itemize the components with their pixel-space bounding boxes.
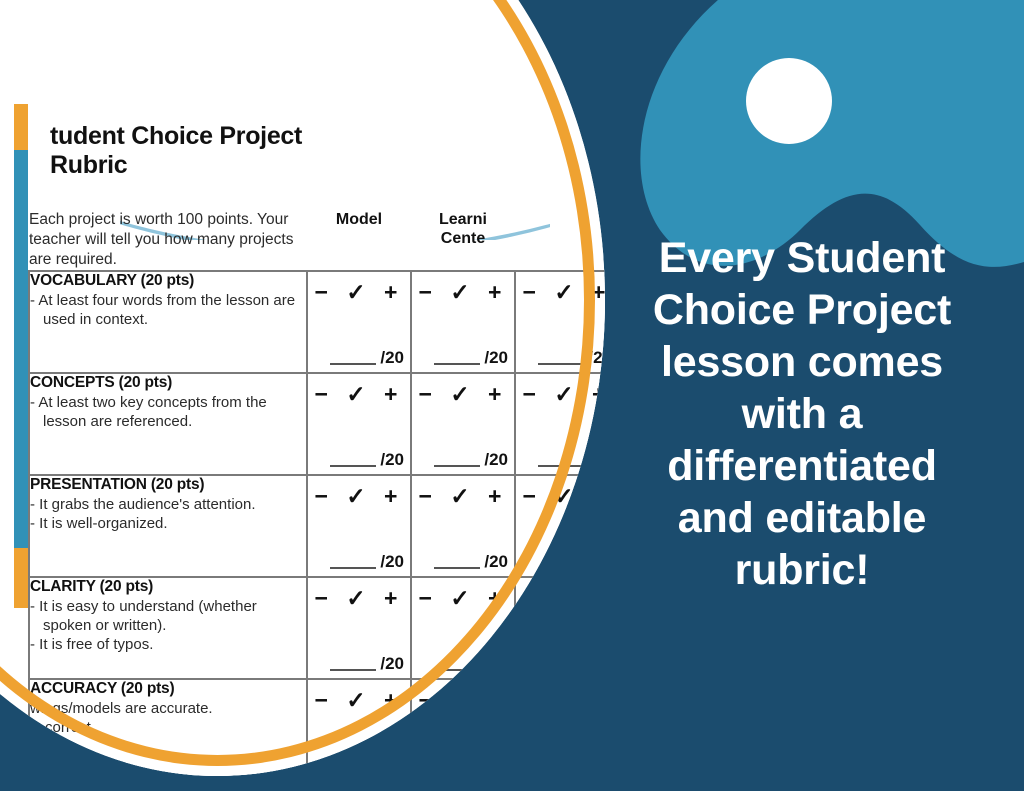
list-item: - It is well-organized.: [30, 514, 306, 533]
score-line[interactable]: [330, 465, 376, 467]
white-circle-decoration: [746, 58, 832, 144]
document-title: tudent Choice Project Rubric: [50, 122, 470, 180]
score-line[interactable]: [538, 771, 584, 773]
score-line[interactable]: [538, 465, 584, 467]
column-header-model: Model: [307, 210, 411, 271]
score-cell-third[interactable]: − ✓ + /20: [515, 271, 605, 373]
score-cell-learning-center[interactable]: − ✓ + /20: [411, 577, 515, 679]
criterion-title: PRESENTATION (20 pts): [30, 476, 306, 494]
column-header-learning-center: Learni Cente: [411, 210, 515, 271]
list-item: - It grabs the audience's attention.: [30, 495, 306, 514]
score-blank[interactable]: /20: [412, 450, 508, 470]
score-cell-learning-center[interactable]: − ✓ + /20: [411, 271, 515, 373]
score-cell-model[interactable]: − ✓ + /20: [307, 475, 411, 577]
score-line[interactable]: [330, 363, 376, 365]
score-blank[interactable]: /20: [308, 450, 404, 470]
score-blank[interactable]: /20: [412, 654, 508, 674]
score-blank[interactable]: /20: [308, 552, 404, 572]
list-item: wings/models are accurate.: [30, 699, 306, 718]
score-suffix: /20: [484, 552, 508, 571]
criterion-bullets: wings/models are accurate. is correct: [30, 699, 306, 737]
mark-options[interactable]: − ✓ +: [308, 374, 410, 408]
score-suffix: /20: [588, 450, 605, 469]
mark-options[interactable]: − ✓ +: [412, 476, 514, 510]
score-cell-third[interactable]: − ✓ + /20: [515, 679, 605, 776]
criterion-title: ACCURACY (20 pts): [30, 680, 306, 698]
mark-options[interactable]: − ✓ +: [516, 680, 605, 714]
criterion-bullets: - It is easy to understand (whether spok…: [30, 597, 306, 654]
score-suffix: /20: [588, 348, 605, 367]
column-header-learning-center-line2: Cente: [441, 230, 485, 247]
criterion-title: VOCABULARY (20 pts): [30, 272, 306, 290]
score-suffix: /20: [380, 756, 404, 775]
score-cell-learning-center[interactable]: − ✓ + /20: [411, 679, 515, 776]
criterion-accuracy: ACCURACY (20 pts) wings/models are accur…: [29, 679, 307, 776]
score-line[interactable]: [330, 567, 376, 569]
column-header-third: [515, 210, 605, 271]
score-suffix: /20: [588, 654, 605, 673]
score-blank[interactable]: /20: [516, 552, 605, 572]
score-cell-third[interactable]: − ✓ + /20: [515, 475, 605, 577]
score-blank[interactable]: /20: [412, 348, 508, 368]
table-row: ACCURACY (20 pts) wings/models are accur…: [29, 679, 605, 776]
score-blank[interactable]: /20: [308, 348, 404, 368]
mark-options[interactable]: − ✓ +: [516, 578, 605, 612]
score-suffix: /20: [380, 348, 404, 367]
score-line[interactable]: [330, 771, 376, 773]
score-cell-model[interactable]: − ✓ + /20: [307, 679, 411, 776]
score-line[interactable]: [434, 771, 480, 773]
score-suffix: /20: [380, 654, 404, 673]
page-edge-accent-top: [14, 104, 28, 150]
list-item: - At least two key concepts from the les…: [30, 393, 306, 431]
score-suffix: /20: [380, 552, 404, 571]
score-suffix: /20: [588, 552, 605, 571]
score-blank[interactable]: /20: [516, 450, 605, 470]
headline-line-2: Choice Project: [600, 284, 1004, 336]
score-cell-learning-center[interactable]: − ✓ + /20: [411, 475, 515, 577]
score-blank[interactable]: /20: [516, 756, 605, 776]
score-suffix: /20: [484, 348, 508, 367]
score-line[interactable]: [538, 363, 584, 365]
table-row: VOCABULARY (20 pts) - At least four word…: [29, 271, 605, 373]
score-suffix: /20: [380, 450, 404, 469]
criterion-title: CLARITY (20 pts): [30, 578, 306, 596]
list-item: is correct: [30, 718, 306, 737]
rubric-page: tudent Choice Project Rubric Each projec…: [0, 0, 605, 776]
score-line[interactable]: [434, 363, 480, 365]
headline-line-4: with a: [600, 388, 1004, 440]
score-cell-model[interactable]: − ✓ + /20: [307, 271, 411, 373]
document-title-line-1: tudent Choice Project: [50, 122, 470, 151]
mark-options[interactable]: − ✓ +: [412, 680, 514, 714]
criterion-presentation: PRESENTATION (20 pts) - It grabs the aud…: [29, 475, 307, 577]
score-suffix: /20: [484, 450, 508, 469]
score-line[interactable]: [538, 669, 584, 671]
score-line[interactable]: [434, 669, 480, 671]
score-line[interactable]: [330, 669, 376, 671]
score-line[interactable]: [434, 567, 480, 569]
table-row: CONCEPTS (20 pts) - At least two key con…: [29, 373, 605, 475]
mark-options[interactable]: − ✓ +: [308, 578, 410, 612]
list-item: - It is free of typos.: [30, 635, 306, 654]
list-item: - At least four words from the lesson ar…: [30, 291, 306, 329]
page-edge-accent-bottom: [14, 548, 28, 608]
headline-line-3: lesson comes: [600, 336, 1004, 388]
score-cell-learning-center[interactable]: − ✓ + /20: [411, 373, 515, 475]
mark-options[interactable]: − ✓ +: [412, 272, 514, 306]
list-item: - It is easy to understand (whether spok…: [30, 597, 306, 635]
table-row: CLARITY (20 pts) - It is easy to underst…: [29, 577, 605, 679]
page-edge-accent-teal: [14, 150, 28, 548]
score-blank[interactable]: /20: [516, 654, 605, 674]
criterion-clarity: CLARITY (20 pts) - It is easy to underst…: [29, 577, 307, 679]
score-blank[interactable]: /20: [308, 756, 404, 776]
score-cell-model[interactable]: − ✓ + /20: [307, 577, 411, 679]
column-header-learning-center-line1: Learni: [439, 211, 487, 228]
score-blank[interactable]: /20: [412, 756, 508, 776]
headline-line-7: rubric!: [600, 544, 1004, 596]
score-cell-third[interactable]: − ✓ + /20: [515, 373, 605, 475]
table-row: PRESENTATION (20 pts) - It grabs the aud…: [29, 475, 605, 577]
criterion-concepts: CONCEPTS (20 pts) - At least two key con…: [29, 373, 307, 475]
score-suffix: /20: [588, 756, 605, 775]
headline-line-6: and editable: [600, 492, 1004, 544]
headline-line-5: differentiated: [600, 440, 1004, 492]
score-line[interactable]: [434, 465, 480, 467]
criterion-title: CONCEPTS (20 pts): [30, 374, 306, 392]
score-blank[interactable]: /20: [308, 654, 404, 674]
score-cell-model[interactable]: − ✓ + /20: [307, 373, 411, 475]
rubric-document-preview[interactable]: tudent Choice Project Rubric Each projec…: [0, 0, 605, 776]
mark-options[interactable]: − ✓ +: [308, 272, 410, 306]
criterion-bullets: - At least two key concepts from the les…: [30, 393, 306, 431]
criterion-bullets: - At least four words from the lesson ar…: [30, 291, 306, 329]
rubric-header-row: Each project is worth 100 points. Your t…: [29, 210, 605, 271]
rubric-table: Each project is worth 100 points. Your t…: [28, 210, 605, 776]
score-cell-third[interactable]: − ✓ + /20: [515, 577, 605, 679]
mark-options[interactable]: − ✓ +: [308, 680, 410, 714]
score-blank[interactable]: /20: [412, 552, 508, 572]
mark-options[interactable]: − ✓ +: [308, 476, 410, 510]
rubric-intro-text: Each project is worth 100 points. Your t…: [29, 210, 307, 271]
criterion-vocabulary: VOCABULARY (20 pts) - At least four word…: [29, 271, 307, 373]
headline-text: Every Student Choice Project lesson come…: [600, 232, 1004, 596]
slide-canvas: Every Student Choice Project lesson come…: [0, 0, 1024, 791]
mark-options[interactable]: − ✓ +: [516, 476, 605, 510]
score-suffix: /20: [484, 654, 508, 673]
score-suffix: /20: [484, 756, 508, 775]
criterion-bullets: - It grabs the audience's attention. - I…: [30, 495, 306, 533]
mark-options[interactable]: − ✓ +: [516, 272, 605, 306]
mark-options[interactable]: − ✓ +: [412, 374, 514, 408]
mark-options[interactable]: − ✓ +: [516, 374, 605, 408]
document-title-line-2: Rubric: [50, 151, 470, 180]
headline-line-1: Every Student: [600, 232, 1004, 284]
score-blank[interactable]: /20: [516, 348, 605, 368]
mark-options[interactable]: − ✓ +: [412, 578, 514, 612]
score-line[interactable]: [538, 567, 584, 569]
column-header-model-label: Model: [336, 211, 382, 228]
